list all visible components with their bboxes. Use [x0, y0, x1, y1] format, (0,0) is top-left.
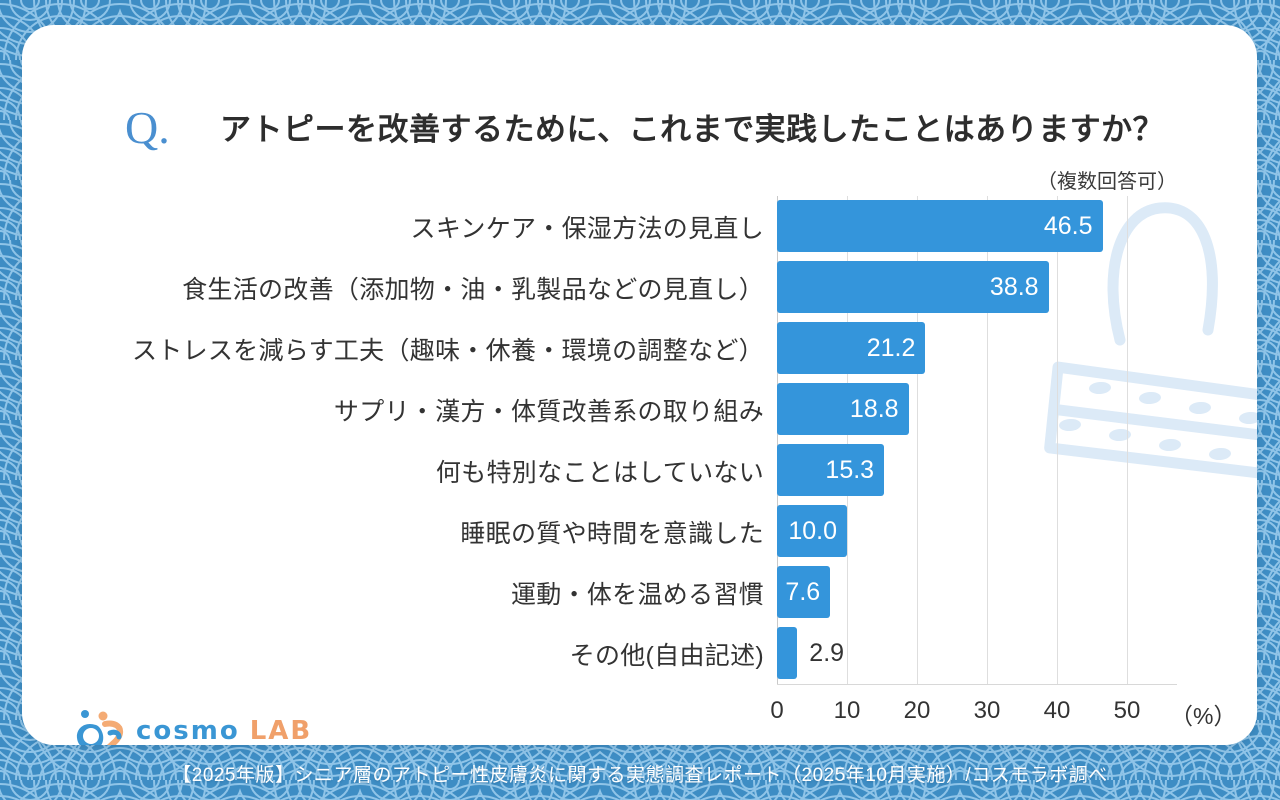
bar-value-label: 10.0: [788, 505, 837, 557]
bar-category-label: 食生活の改善（添加物・油・乳製品などの見直し）: [182, 257, 764, 318]
x-axis-tick-30: 30: [974, 697, 1001, 725]
bar-row: その他(自由記述)2.9: [22, 623, 1257, 684]
bar-value-label: 15.3: [825, 444, 874, 496]
bar-track: 38.8: [777, 257, 1207, 318]
x-axis-unit-label: （%）: [1170, 697, 1236, 731]
logo-text-cosmo: cosmo: [136, 716, 240, 746]
footer-caption: 【2025年版】シニア層のアトピー性皮膚炎に関する実態調査レポート（2025年1…: [0, 760, 1280, 787]
bar-row: 運動・体を温める習慣7.6: [22, 562, 1257, 623]
horizontal-bar-chart: スキンケア・保湿方法の見直し46.5食生活の改善（添加物・油・乳製品などの見直し…: [22, 25, 1257, 745]
bar-row: スキンケア・保湿方法の見直し46.5: [22, 196, 1257, 257]
x-axis-tick-20: 20: [904, 697, 931, 725]
x-axis-tick-10: 10: [834, 697, 861, 725]
bar-row: ストレスを減らす工夫（趣味・休養・環境の調整など）21.2: [22, 318, 1257, 379]
bar-category-label: 運動・体を温める習慣: [511, 562, 764, 623]
x-axis-tick-0: 0: [770, 697, 783, 725]
bar-value-label: 46.5: [1044, 200, 1093, 252]
bar-category-label: サプリ・漢方・体質改善系の取り組み: [334, 379, 764, 440]
bar-category-label: スキンケア・保湿方法の見直し: [411, 196, 764, 257]
logo-text-lab: LAB: [250, 716, 313, 746]
bar-row: 食生活の改善（添加物・油・乳製品などの見直し）38.8: [22, 257, 1257, 318]
bar-row: サプリ・漢方・体質改善系の取り組み18.8: [22, 379, 1257, 440]
bar-category-label: その他(自由記述): [570, 623, 764, 684]
bar-track: 2.9: [777, 623, 1207, 684]
bar-track: 15.3: [777, 440, 1207, 501]
bar[interactable]: [777, 627, 797, 679]
x-axis-baseline: [777, 684, 1177, 685]
bar-value-label: 21.2: [867, 322, 916, 374]
bar-category-label: 何も特別なことはしていない: [436, 440, 764, 501]
bar-value-label: 38.8: [990, 261, 1039, 313]
logo-mascot-icon: [74, 709, 126, 746]
bar-track: 18.8: [777, 379, 1207, 440]
x-axis-tick-50: 50: [1114, 697, 1141, 725]
content-card: Q. アトピーを改善するために、これまで実践したことはありますか？ （複数回答可…: [22, 25, 1257, 745]
bar-row: 睡眠の質や時間を意識した10.0: [22, 501, 1257, 562]
bar-value-label: 2.9: [809, 627, 844, 679]
x-axis-tick-40: 40: [1044, 697, 1071, 725]
bar-track: 21.2: [777, 318, 1207, 379]
bar-track: 7.6: [777, 562, 1207, 623]
bar-track: 46.5: [777, 196, 1207, 257]
bar-category-label: ストレスを減らす工夫（趣味・休養・環境の調整など）: [132, 318, 764, 379]
bar-value-label: 18.8: [850, 383, 899, 435]
bar-track: 10.0: [777, 501, 1207, 562]
bar-category-label: 睡眠の質や時間を意識した: [460, 501, 764, 562]
cosmo-lab-logo: cosmo LAB: [74, 708, 312, 745]
bar-row: 何も特別なことはしていない15.3: [22, 440, 1257, 501]
bar-value-label: 7.6: [785, 566, 820, 618]
